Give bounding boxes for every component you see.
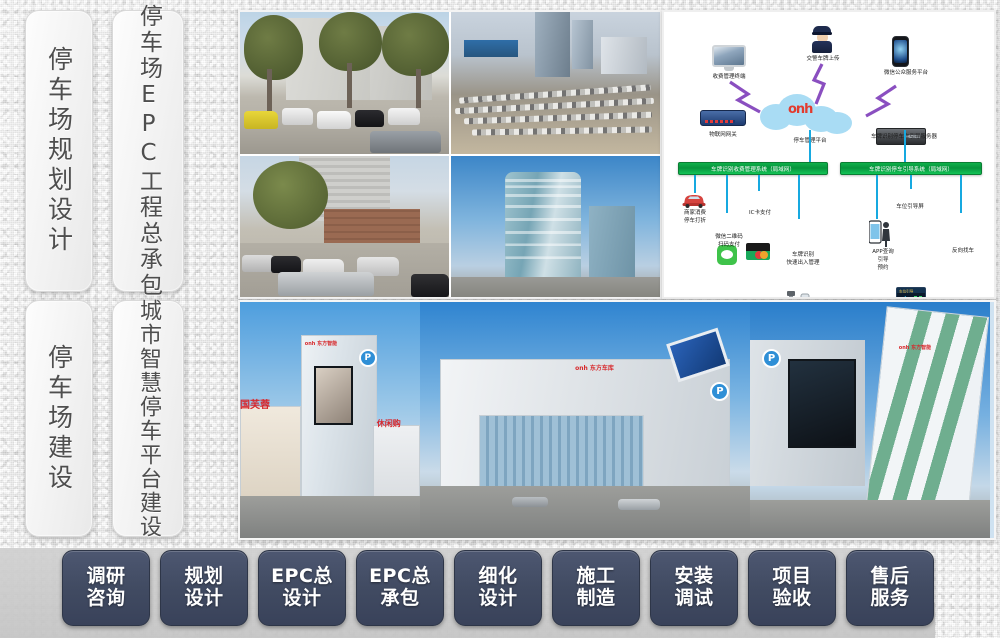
step-line1: 调研 xyxy=(86,566,125,588)
warehouse-roof-shape xyxy=(464,40,518,57)
ground-shape xyxy=(451,277,660,297)
process-step-acceptance[interactable]: 项目 验收 xyxy=(748,550,836,626)
fee-system-bar: 车牌识别收费管理系统（局域网） xyxy=(678,162,828,175)
lpr-gate-label: 车牌识别快速出入管理 xyxy=(772,252,834,268)
ground-shape xyxy=(240,496,420,538)
photo-aerial-parking xyxy=(451,12,660,154)
tree-shape xyxy=(244,15,303,80)
car-shape xyxy=(370,131,441,154)
police-officer-icon xyxy=(812,26,832,54)
ground-shape xyxy=(750,500,990,538)
step-line1: EPC总 xyxy=(369,566,431,588)
step-line1: 施工 xyxy=(576,566,615,588)
step-line2: 服务 xyxy=(870,588,909,610)
car-shape xyxy=(317,111,350,129)
car-shape xyxy=(355,110,384,127)
render-brand-label: onh 东方智能 xyxy=(899,344,931,351)
service-card-column: 停车场规划设计 停车场EPC工程总承包 停车场建设 城市智慧停车平台建设 xyxy=(0,0,232,545)
car-shape xyxy=(512,497,548,507)
iot-gateway-icon xyxy=(700,110,746,126)
side-tower-shape xyxy=(589,206,635,280)
monitor-icon xyxy=(712,45,746,71)
tower-shape xyxy=(601,37,647,74)
service-card-label: 停车场EPC工程总承包 xyxy=(137,4,160,299)
step-line2: 验收 xyxy=(772,588,811,610)
process-step-survey[interactable]: 调研 咨询 xyxy=(62,550,150,626)
cloud-brand-text: onh xyxy=(788,102,812,117)
drop-line xyxy=(758,175,760,191)
ic-card-label: IC卡支付 xyxy=(738,210,782,218)
tree-shape xyxy=(382,13,449,75)
tree-trunk-shape xyxy=(416,69,421,109)
car-shape xyxy=(411,274,449,297)
service-card-platform[interactable]: 城市智慧停车平台建设 xyxy=(112,300,184,537)
process-step-epc-contract[interactable]: EPC总 承包 xyxy=(356,550,444,626)
photo-glass-tower xyxy=(451,156,660,298)
trunk-line xyxy=(904,130,906,162)
step-line1: EPC总 xyxy=(271,566,333,588)
step-line2: 设计 xyxy=(184,588,223,610)
step-line2: 制造 xyxy=(576,588,615,610)
bolt-connector-monitor xyxy=(730,82,760,112)
parking-guidance-led-icon: 车位引导 xyxy=(896,287,926,299)
tower-shape xyxy=(535,12,571,77)
svg-text:车位引导: 车位引导 xyxy=(899,288,914,293)
right-shop-sign: 休闲购 xyxy=(377,418,401,429)
photo-street-parking xyxy=(240,12,449,154)
service-card-label: 停车场规划设计 xyxy=(47,46,72,256)
photo-brick-building-parking xyxy=(240,156,449,298)
drop-line xyxy=(798,175,800,219)
app-query-icon xyxy=(869,219,893,252)
tower-shape xyxy=(572,20,593,68)
app-query-label: APP查询引导预约 xyxy=(856,249,910,273)
reverse-find-label: 反向找车 xyxy=(942,248,984,256)
render-tower-building: onh 东方智能 P 国芙蓉 休闲购 xyxy=(240,302,420,538)
process-step-planning[interactable]: 规划 设计 xyxy=(160,550,248,626)
tree-trunk-shape xyxy=(267,69,272,111)
ic-card-icon xyxy=(746,243,770,260)
guide-system-label: 车牌识别停车引导系统（局域网） xyxy=(869,165,953,173)
car-shape xyxy=(278,272,374,296)
step-line2: 咨询 xyxy=(86,588,125,610)
step-line2: 设计 xyxy=(282,588,321,610)
glass-curtain-shape xyxy=(479,415,644,495)
process-step-after-sales[interactable]: 售后 服务 xyxy=(846,550,934,626)
service-card-label: 城市智慧停车平台建设 xyxy=(137,299,159,539)
ground-shape xyxy=(420,486,750,538)
billboard-shape xyxy=(788,359,855,449)
process-step-detail-design[interactable]: 细化 设计 xyxy=(454,550,542,626)
car-shape xyxy=(271,256,300,273)
billboard-shape xyxy=(314,366,354,425)
process-step-install[interactable]: 安装 调试 xyxy=(650,550,738,626)
lpr-gate-icon xyxy=(786,288,812,299)
drop-line xyxy=(694,175,696,193)
fee-system-label: 车牌识别收费管理系统（局域网） xyxy=(711,165,795,173)
step-line2: 调试 xyxy=(674,588,713,610)
service-card-epc[interactable]: 停车场EPC工程总承包 xyxy=(112,10,184,292)
step-line1: 售后 xyxy=(870,566,909,588)
step-line2: 承包 xyxy=(380,588,419,610)
parked-cars-row xyxy=(463,112,651,125)
tree-trunk-shape xyxy=(347,63,352,108)
shop-discount-label: 商家消费停车打折 xyxy=(668,210,722,226)
step-line1: 项目 xyxy=(772,566,811,588)
left-shop-sign: 国芙蓉 xyxy=(240,396,270,411)
tree-shape xyxy=(253,161,328,229)
step-line1: 规划 xyxy=(184,566,223,588)
guide-system-bar: 车牌识别停车引导系统（局域网） xyxy=(840,162,982,175)
parked-cars-row xyxy=(472,126,652,135)
mobile-phone-icon xyxy=(892,36,909,67)
drop-line xyxy=(876,175,878,219)
service-card-planning[interactable]: 停车场规划设计 xyxy=(25,10,93,292)
service-card-label: 停车场建设 xyxy=(47,344,72,494)
step-line1: 细化 xyxy=(478,566,517,588)
car-shape xyxy=(388,108,419,125)
render-brand-label: onh 东方智能 xyxy=(305,340,337,347)
render-aerial-tower: P onh 东方智能 xyxy=(750,302,990,538)
parking-p-icon: P xyxy=(359,349,377,367)
trunk-line xyxy=(809,130,811,162)
glass-tower-shape xyxy=(505,172,580,280)
photo-grid xyxy=(238,10,662,299)
bolt-connector-phone xyxy=(866,86,896,116)
top-media-zone: 收费管理终端 交警车牌上传 微信公众服务平台 物联网网关 onh 停车管理平台 … xyxy=(238,10,992,295)
render-brand-label: onh 东方车库 xyxy=(575,363,614,372)
car-shape xyxy=(618,499,660,510)
drop-line xyxy=(910,175,912,189)
process-step-epc-design[interactable]: EPC总 设计 xyxy=(258,550,346,626)
step-line2: 设计 xyxy=(478,588,517,610)
police-label: 交警车牌上传 xyxy=(780,56,866,64)
drop-line xyxy=(726,175,728,213)
monitor-label: 收费管理终端 xyxy=(686,74,772,82)
process-step-list: 调研 咨询 规划 设计 EPC总 设计 EPC总 承包 细化 设计 施工 制造 … xyxy=(0,538,1000,638)
step-line1: 安装 xyxy=(674,566,713,588)
drop-line xyxy=(960,175,962,213)
guidance-screen-label: 车位引导屏 xyxy=(886,204,934,212)
wechat-platform-label: 微信公众服务平台 xyxy=(860,70,952,78)
process-bar-area: 调研 咨询 规划 设计 EPC总 设计 EPC总 承包 细化 设计 施工 制造 … xyxy=(0,538,1000,638)
service-card-construction[interactable]: 停车场建设 xyxy=(25,300,93,537)
process-step-manufacture[interactable]: 施工 制造 xyxy=(552,550,640,626)
gateway-label: 物联网网关 xyxy=(688,132,758,140)
render-image-strip: onh 东方智能 P 国芙蓉 休闲购 onh 东方车库 P P onh 东方智能 xyxy=(238,300,996,540)
system-topology-diagram: 收费管理终端 交警车牌上传 微信公众服务平台 物联网网关 onh 停车管理平台 … xyxy=(662,10,996,299)
render-garage-facade: onh 东方车库 P xyxy=(420,302,750,538)
car-shape xyxy=(282,108,313,125)
car-shape xyxy=(244,111,277,129)
